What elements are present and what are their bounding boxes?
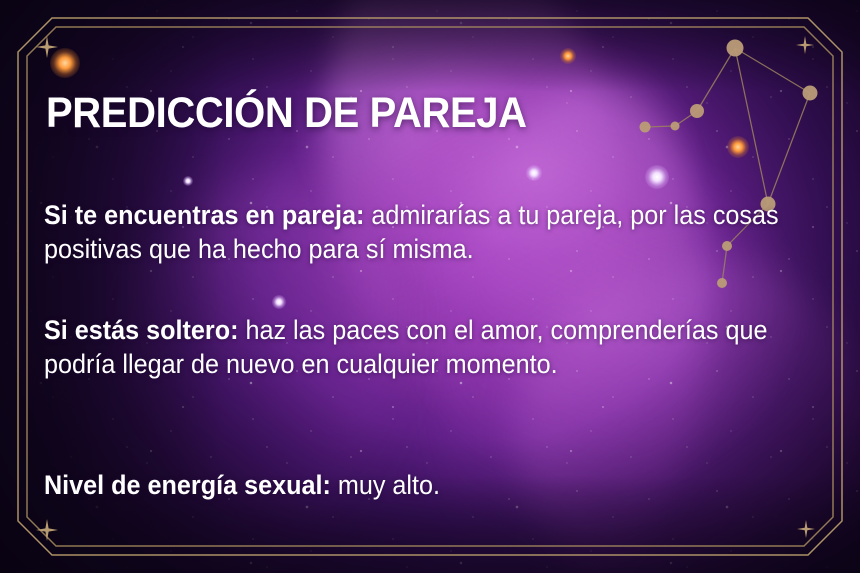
paragraph-body-text: muy alto. bbox=[331, 470, 440, 500]
prediction-paragraph-couple: Si te encuentras en pareja: admirarías a… bbox=[44, 198, 842, 266]
page-title: PREDICCIÓN DE PAREJA bbox=[46, 92, 527, 135]
paragraph-lead-label: Nivel de energía sexual: bbox=[44, 470, 331, 500]
paragraph-lead-label: Si te encuentras en pareja: bbox=[44, 200, 364, 230]
poster-content: PREDICCIÓN DE PAREJA Si te encuentras en… bbox=[44, 0, 834, 573]
paragraph-lead-label: Si estás soltero: bbox=[44, 315, 238, 345]
prediction-paragraph-energy: Nivel de energía sexual: muy alto. bbox=[44, 468, 842, 502]
horoscope-prediction-poster: PREDICCIÓN DE PAREJA Si te encuentras en… bbox=[0, 0, 860, 573]
prediction-paragraph-single: Si estás soltero: haz las paces con el a… bbox=[44, 313, 842, 381]
